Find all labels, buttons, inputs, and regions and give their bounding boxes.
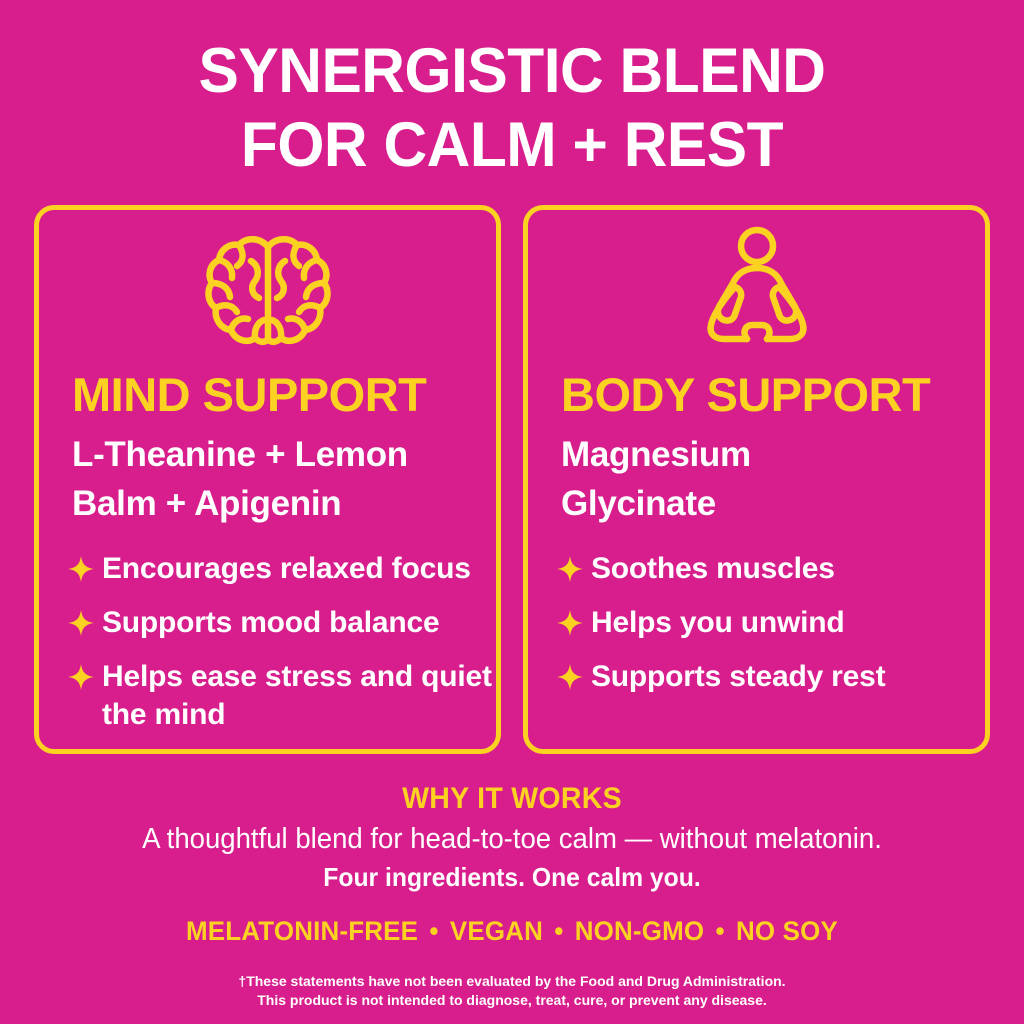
sparkle-icon: [66, 604, 96, 642]
benefit-list-mind: Encourages relaxed focus Supports mood b…: [66, 550, 496, 734]
sparkle-icon: [555, 658, 585, 696]
page-title-line-1: SYNERGISTIC BLEND: [20, 34, 1003, 108]
list-item: Supports steady rest: [555, 658, 985, 696]
badge-melatonin-free: MELATONIN-FREE: [186, 916, 418, 946]
brain-icon: [39, 210, 496, 358]
card-heading-body: BODY SUPPORT: [561, 368, 985, 422]
page-title: SYNERGISTIC BLEND FOR CALM + REST: [20, 34, 1003, 182]
fda-disclaimer: †These statements have not been evaluate…: [0, 972, 1024, 1010]
sparkle-icon: [66, 550, 96, 588]
badge-no-soy: NO SOY: [736, 916, 838, 946]
claims-badge-row: MELATONIN-FREE • VEGAN • NON-GMO • NO SO…: [20, 915, 1003, 947]
disclaimer-line-2: This product is not intended to diagnose…: [0, 991, 1024, 1010]
disclaimer-line-1: †These statements have not been evaluate…: [0, 972, 1024, 991]
why-it-works-line-1: A thoughtful blend for head-to-toe calm …: [26, 820, 999, 858]
why-it-works-line-2: Four ingredients. One calm you.: [26, 860, 999, 894]
meditating-person-icon: [528, 210, 985, 358]
benefit-text: Supports mood balance: [102, 604, 440, 642]
list-item: Encourages relaxed focus: [66, 550, 496, 588]
list-item: Soothes muscles: [555, 550, 985, 588]
benefit-text: Supports steady rest: [591, 658, 885, 696]
benefit-text: Encourages relaxed focus: [102, 550, 471, 588]
badge-separator: •: [712, 916, 729, 946]
sparkle-icon: [555, 604, 585, 642]
benefit-text: Helps ease stress and quiet the mind: [102, 658, 496, 734]
list-item: Helps ease stress and quiet the mind: [66, 658, 496, 734]
card-ingredients-mind: L-Theanine + Lemon Balm + Apigenin: [72, 430, 496, 528]
badge-non-gmo: NON-GMO: [575, 916, 704, 946]
badge-vegan: VEGAN: [450, 916, 543, 946]
benefit-text: Soothes muscles: [591, 550, 835, 588]
card-heading-mind: MIND SUPPORT: [72, 368, 496, 422]
list-item: Supports mood balance: [66, 604, 496, 642]
why-it-works-title: WHY IT WORKS: [26, 782, 999, 816]
ingredients-line-2: Balm + Apigenin: [72, 479, 496, 528]
support-cards-container: MIND SUPPORT L-Theanine + Lemon Balm + A…: [34, 205, 990, 754]
why-it-works-section: WHY IT WORKS A thoughtful blend for head…: [0, 782, 1024, 894]
card-body-support: BODY SUPPORT Magnesium Glycinate Soothes…: [523, 205, 990, 754]
ingredients-line-2: Glycinate: [561, 479, 985, 528]
sparkle-icon: [555, 550, 585, 588]
badge-separator: •: [550, 916, 567, 946]
list-item: Helps you unwind: [555, 604, 985, 642]
page-title-line-2: FOR CALM + REST: [20, 108, 1003, 182]
ingredients-line-1: Magnesium: [561, 430, 985, 479]
benefit-text: Helps you unwind: [591, 604, 844, 642]
badge-separator: •: [426, 916, 443, 946]
benefit-list-body: Soothes muscles Helps you unwind Support…: [555, 550, 985, 696]
card-mind-support: MIND SUPPORT L-Theanine + Lemon Balm + A…: [34, 205, 501, 754]
card-ingredients-body: Magnesium Glycinate: [561, 430, 985, 528]
ingredients-line-1: L-Theanine + Lemon: [72, 430, 496, 479]
sparkle-icon: [66, 658, 96, 696]
